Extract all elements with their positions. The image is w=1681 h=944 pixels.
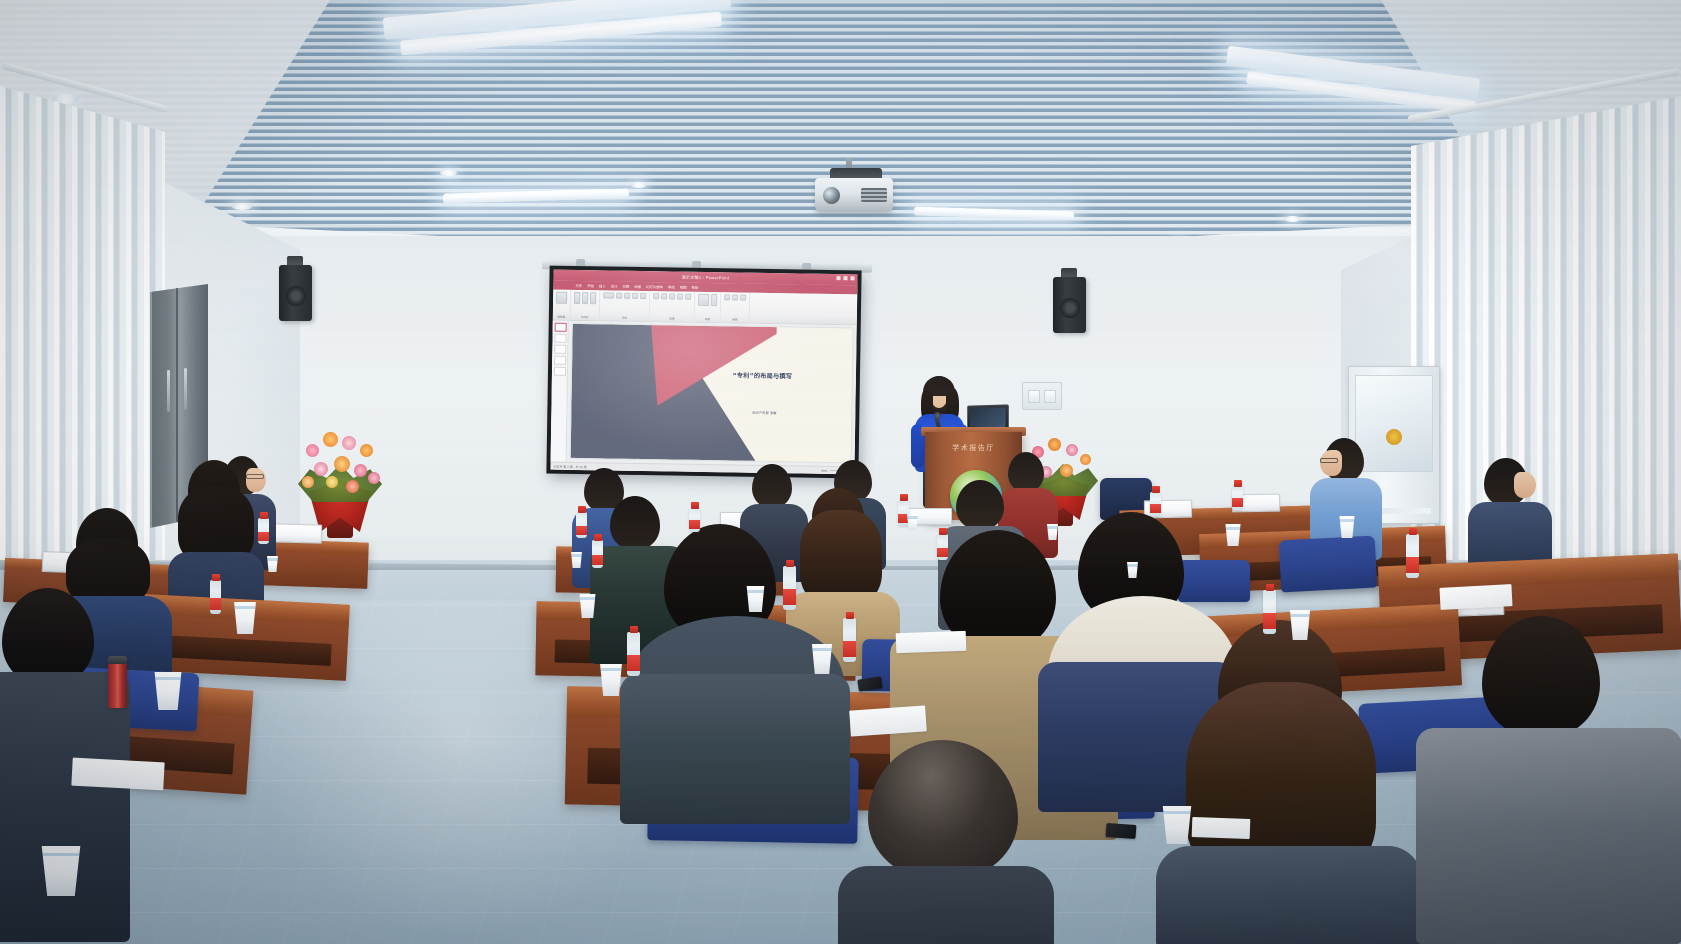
tab-transitions[interactable]: 切换 [622, 284, 629, 289]
reset-button[interactable] [590, 292, 596, 304]
ribbon-group-label: 绘图 [698, 317, 717, 321]
downlight-7 [1284, 216, 1301, 222]
face [1514, 472, 1536, 498]
wall-speaker-right [1053, 277, 1086, 333]
bloom [368, 472, 380, 484]
bottle-label [1406, 557, 1419, 573]
downlight-2 [232, 203, 252, 210]
torso [1156, 846, 1422, 944]
font-size-dropdown[interactable] [616, 293, 622, 299]
ribbon-group-slides[interactable]: 幻灯片 [571, 290, 600, 320]
attendee-bald-front [838, 740, 1056, 944]
bottle-cap [630, 626, 638, 633]
downlight-4 [631, 182, 647, 188]
numbering-button[interactable] [661, 293, 667, 299]
tab-review[interactable]: 审阅 [668, 284, 675, 289]
head [868, 740, 1018, 880]
bottle-cap [1266, 584, 1274, 591]
thermos-lid [108, 656, 127, 664]
bloom [334, 456, 350, 472]
powerpoint-window: 演示文稿1 - PowerPoint 文件 开始 插入 设计 切换 动画 幻灯片… [550, 270, 857, 475]
tab-help[interactable]: 帮助 [691, 285, 698, 290]
chair-right-far[interactable] [1279, 536, 1378, 593]
speaker-cone [1060, 298, 1080, 318]
bottle-label [689, 520, 700, 529]
torso [620, 674, 850, 824]
slide-thumbnail[interactable] [553, 367, 565, 376]
ceiling-projector [815, 178, 893, 212]
water-bottle[interactable] [592, 540, 603, 568]
bottle-label [783, 589, 796, 605]
bottle-label [1263, 613, 1276, 629]
bloom [1080, 454, 1091, 465]
name-card-2 [272, 523, 322, 543]
bloom [354, 464, 367, 477]
water-bottle[interactable] [937, 534, 948, 560]
font-name-dropdown[interactable] [603, 292, 614, 298]
bottle-label [937, 548, 948, 557]
wall-speaker-left [279, 265, 312, 321]
projector-lens-icon [823, 187, 840, 204]
paper-document[interactable] [849, 705, 927, 736]
current-slide[interactable]: “专利”的布局与撰写 知识产权部 张敏 [571, 324, 853, 462]
water-bottle[interactable] [627, 632, 640, 676]
slide-thumbnail[interactable] [554, 356, 566, 365]
bottle-cap [1152, 486, 1160, 493]
wall-light-switch-panel[interactable] [1022, 382, 1062, 410]
bottle-label [627, 655, 640, 671]
find-button[interactable] [724, 294, 730, 300]
water-bottle[interactable] [898, 500, 909, 526]
tab-file[interactable]: 文件 [575, 283, 582, 288]
ribbon-group-label: 剪贴板 [556, 315, 567, 319]
bottle-cap [212, 574, 220, 581]
torso [1416, 728, 1681, 944]
ribbon-group-label: 编辑 [724, 317, 746, 321]
tab-insert[interactable]: 插入 [599, 283, 606, 288]
replace-button[interactable] [732, 294, 738, 300]
red-thermos[interactable] [108, 656, 127, 708]
ribbon-group-clipboard[interactable]: 剪贴板 [553, 290, 571, 320]
torso [838, 866, 1054, 944]
ribbon-group-label: 段落 [653, 316, 691, 321]
eyeglasses-icon [1320, 458, 1338, 463]
tab-design[interactable]: 设计 [611, 284, 618, 289]
bottle-cap [578, 506, 586, 513]
slide-title-text: “专利”的布局与撰写 [684, 371, 841, 382]
microphone-head-icon [934, 412, 941, 419]
gold-seal-icon [1386, 429, 1402, 445]
tab-home[interactable]: 开始 [587, 283, 594, 288]
ribbon-group-paragraph[interactable]: 段落 [650, 291, 695, 322]
bloom [314, 462, 328, 476]
projector-vent [861, 188, 887, 202]
water-bottle[interactable] [1150, 492, 1161, 516]
slide-shape-rose [650, 325, 777, 407]
bottle-label [576, 526, 587, 535]
bottle-cap [786, 560, 794, 567]
conference-room-photo: 演示文稿1 - PowerPoint 文件 开始 插入 设计 切换 动画 幻灯片… [0, 0, 1681, 944]
paste-button[interactable] [556, 292, 567, 304]
bullets-button[interactable] [653, 293, 659, 299]
powerpoint-workspace: “专利”的布局与撰写 知识产权部 张敏 [551, 321, 857, 467]
powerpoint-ribbon[interactable]: 剪贴板 幻灯片 [553, 290, 857, 326]
bloom [302, 476, 314, 488]
head [1482, 616, 1600, 738]
bloom [346, 480, 359, 493]
slide-editing-stage[interactable]: “专利”的布局与撰写 知识产权部 张敏 [567, 321, 857, 467]
bloom [1066, 444, 1078, 456]
slide-thumbnail[interactable] [554, 345, 566, 354]
italic-button[interactable] [632, 293, 638, 299]
water-bottle[interactable] [1232, 486, 1243, 510]
ribbon-group-drawing[interactable]: 绘图 [695, 292, 721, 322]
align-center-button[interactable] [677, 294, 683, 300]
water-bottle[interactable] [576, 512, 587, 538]
door-handle-right[interactable] [184, 368, 187, 410]
bottle-cap [900, 494, 908, 501]
bloom [360, 444, 373, 457]
bottle-cap [691, 502, 699, 509]
underline-button[interactable] [640, 293, 646, 299]
water-bottle[interactable] [689, 508, 700, 532]
downlight-3 [440, 170, 457, 176]
bottle-cap [594, 534, 602, 541]
tab-animations[interactable]: 动画 [634, 284, 641, 289]
water-bottle[interactable] [783, 566, 796, 610]
light-switch-2[interactable] [1044, 390, 1056, 403]
bottle-label [592, 555, 603, 565]
water-bottle[interactable] [258, 518, 269, 544]
ribbon-group-label: 幻灯片 [574, 315, 596, 319]
head [956, 480, 1004, 530]
projection-screen: 演示文稿1 - PowerPoint 文件 开始 插入 设计 切换 动画 幻灯片… [546, 266, 861, 479]
bottle-label [843, 641, 856, 657]
torso [0, 672, 130, 942]
tab-slideshow[interactable]: 幻灯片放映 [646, 284, 663, 289]
paper-document[interactable] [1192, 817, 1251, 839]
new-slide-button[interactable] [574, 292, 580, 304]
shape-fill-button[interactable] [711, 294, 717, 306]
select-button[interactable] [740, 295, 746, 301]
align-left-button[interactable] [669, 293, 675, 299]
bottle-cap [1234, 480, 1242, 487]
slide-thumbnail[interactable] [554, 323, 566, 332]
window-controls[interactable] [836, 276, 854, 280]
shapes-gallery[interactable] [698, 294, 709, 306]
bottle-label [1150, 504, 1161, 513]
ribbon-group-font[interactable]: 字体 [600, 290, 650, 321]
paper-document[interactable] [896, 631, 967, 653]
attendee-woman-front [1156, 620, 1424, 944]
water-bottle[interactable] [1263, 590, 1276, 634]
bloom [326, 476, 338, 488]
slide-thumbnail[interactable] [554, 334, 566, 343]
flower-arrangement-left [290, 414, 390, 538]
bloom [342, 436, 356, 450]
layout-button[interactable] [582, 292, 588, 304]
bottle-cap [260, 512, 268, 519]
attendee-center-hood [620, 524, 852, 824]
bottle-label [258, 532, 269, 541]
ribbon-group-editing[interactable]: 编辑 [721, 292, 750, 322]
tab-view[interactable]: 视图 [680, 285, 687, 290]
face [1320, 450, 1342, 476]
attendee-right-edge [1416, 616, 1681, 944]
line-spacing-button[interactable] [685, 294, 691, 300]
bloom [323, 432, 338, 447]
water-bottle[interactable] [210, 580, 221, 614]
smartphone[interactable] [1106, 823, 1137, 839]
powerpoint-title-text: 演示文稿1 - PowerPoint [682, 274, 730, 281]
light-switch-1[interactable] [1028, 390, 1040, 403]
bloom [1060, 464, 1073, 477]
speaker-cone [286, 286, 306, 306]
bloom [1048, 438, 1061, 451]
bottle-cap [846, 612, 854, 619]
bold-button[interactable] [624, 293, 630, 299]
bloom [306, 444, 319, 457]
water-bottle[interactable] [1406, 534, 1419, 578]
bottle-cap [1409, 528, 1417, 535]
bottle-label [210, 598, 221, 610]
water-bottle[interactable] [843, 618, 856, 662]
laptop-screen [970, 408, 1006, 428]
ribbon-group-label: 字体 [603, 315, 646, 320]
bottle-label [1232, 498, 1243, 507]
screen-surface: 演示文稿1 - PowerPoint 文件 开始 插入 设计 切换 动画 幻灯片… [550, 270, 857, 475]
paper-document[interactable] [1439, 584, 1512, 610]
bottle-cap [939, 528, 947, 535]
door-handle-left[interactable] [167, 370, 170, 412]
paper-document[interactable] [71, 758, 164, 791]
